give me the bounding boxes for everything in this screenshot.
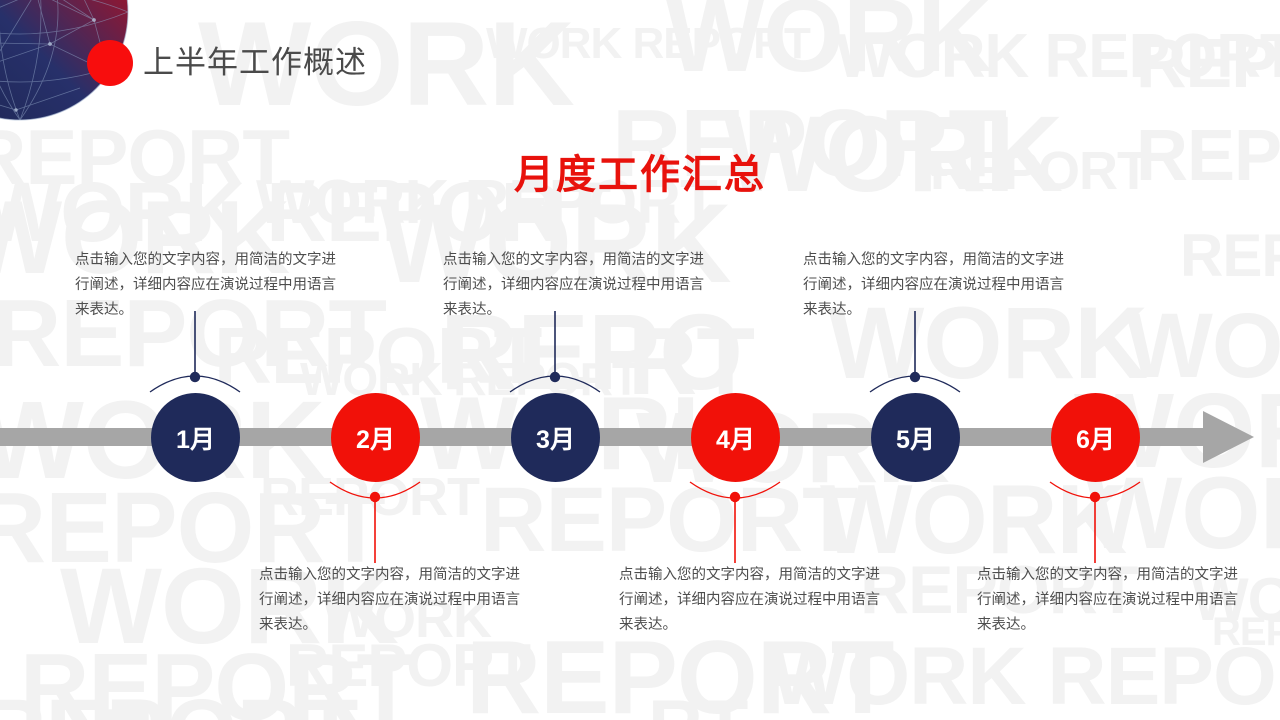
- connector-dot: [370, 492, 380, 502]
- page-title: 上半年工作概述: [143, 40, 367, 86]
- timeline-milestone-6[interactable]: 6月: [1051, 393, 1140, 482]
- red-dot-icon: [87, 40, 133, 86]
- connector-dot: [1090, 492, 1100, 502]
- milestone-description-1: 点击输入您的文字内容，用简洁的文字进行阐述，详细内容应在演说过程中用语言来表达。: [75, 248, 337, 323]
- connector-dot: [550, 372, 560, 382]
- slide-canvas: REPORT WORK REPORT WORK WORK REPORT WORK…: [0, 0, 1280, 720]
- section-title: 月度工作汇总: [0, 142, 1280, 200]
- timeline-milestone-1[interactable]: 1月: [151, 393, 240, 482]
- timeline-milestone-4[interactable]: 4月: [691, 393, 780, 482]
- milestone-label: 2月: [356, 420, 395, 456]
- milestone-label: 1月: [176, 420, 215, 456]
- milestone-label: 5月: [896, 420, 935, 456]
- timeline-milestone-2[interactable]: 2月: [331, 393, 420, 482]
- connector-dot: [190, 372, 200, 382]
- milestone-label: 4月: [716, 420, 755, 456]
- milestone-label: 6月: [1076, 420, 1115, 456]
- milestone-description-6: 点击输入您的文字内容，用简洁的文字进行阐述，详细内容应在演说过程中用语言来表达。: [977, 563, 1239, 638]
- milestone-label: 3月: [536, 420, 575, 456]
- timeline-milestone-3[interactable]: 3月: [511, 393, 600, 482]
- connector-dot: [910, 372, 920, 382]
- milestone-description-5: 点击输入您的文字内容，用简洁的文字进行阐述，详细内容应在演说过程中用语言来表达。: [803, 248, 1065, 323]
- milestone-description-3: 点击输入您的文字内容，用简洁的文字进行阐述，详细内容应在演说过程中用语言来表达。: [443, 248, 705, 323]
- milestone-description-2: 点击输入您的文字内容，用简洁的文字进行阐述，详细内容应在演说过程中用语言来表达。: [259, 563, 521, 638]
- connector-dot: [730, 492, 740, 502]
- milestone-description-4: 点击输入您的文字内容，用简洁的文字进行阐述，详细内容应在演说过程中用语言来表达。: [619, 563, 881, 638]
- timeline-milestone-5[interactable]: 5月: [871, 393, 960, 482]
